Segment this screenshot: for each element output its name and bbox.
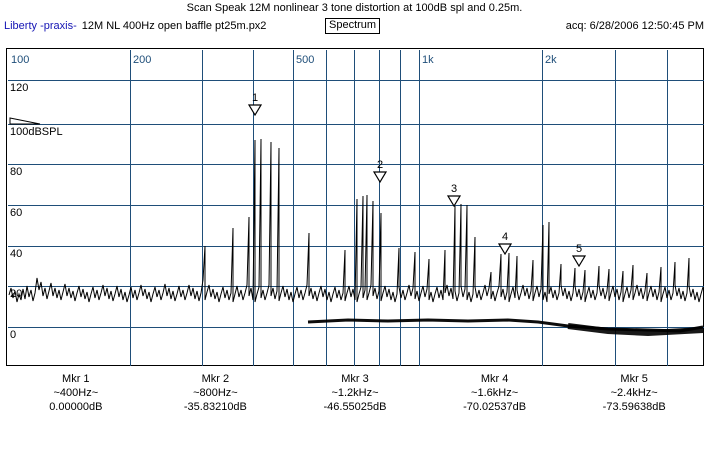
marker-3-number: 3 (446, 184, 462, 195)
marker-readout-4-freq: ~1.6kHz~ (425, 386, 565, 400)
spectrum-plot[interactable]: 120 100dBSPL 80 60 40 20 0 100 200 500 1… (6, 48, 704, 366)
spectrum-mode-button[interactable]: Spectrum (325, 18, 380, 34)
marker-readout-2-name: Mkr 2 (146, 372, 286, 386)
page-title: Scan Speak 12M nonlinear 3 tone distorti… (0, 1, 709, 15)
marker-2-arrow-icon (373, 171, 387, 183)
marker-5-arrow-icon (572, 255, 586, 267)
marker-readout-2[interactable]: Mkr 2 ~800Hz~ -35.83210dB (146, 372, 286, 424)
marker-5-number: 5 (571, 244, 587, 255)
marker-1-number: 1 (247, 93, 263, 104)
noise-floor-band (308, 320, 703, 331)
marker-annotation-2[interactable]: 2 (372, 160, 388, 183)
marker-readout-5-freq: ~2.4kHz~ (564, 386, 704, 400)
marker-readout-3-freq: ~1.2kHz~ (285, 386, 425, 400)
spectrum-analyzer-window: Scan Speak 12M nonlinear 3 tone distorti… (0, 0, 709, 472)
file-info: Liberty -praxis-12M NL 400Hz open baffle… (4, 19, 266, 34)
marker-readout-3-level: -46.55025dB (285, 400, 425, 414)
marker-1-arrow-icon (248, 104, 262, 116)
brand-label: Liberty -praxis- (4, 20, 77, 32)
marker-readout-4-name: Mkr 4 (425, 372, 565, 386)
acquisition-timestamp: acq: 6/28/2006 12:50:45 PM (566, 19, 704, 34)
marker-4-arrow-icon (498, 243, 512, 255)
marker-3-arrow-icon (447, 195, 461, 207)
marker-annotation-5[interactable]: 5 (571, 244, 587, 267)
marker-readout-table: Mkr 1 ~400Hz~ 0.00000dB Mkr 2 ~800Hz~ -3… (6, 372, 704, 424)
marker-readout-5-name: Mkr 5 (564, 372, 704, 386)
subheader-bar: Liberty -praxis-12M NL 400Hz open baffle… (0, 19, 709, 35)
file-name-label: 12M NL 400Hz open baffle pt25m.px2 (82, 20, 267, 32)
noise-floor-band-low (568, 326, 703, 333)
marker-readout-5-level: -73.59638dB (564, 400, 704, 414)
marker-readout-5[interactable]: Mkr 5 ~2.4kHz~ -73.59638dB (564, 372, 704, 424)
marker-readout-1[interactable]: Mkr 1 ~400Hz~ 0.00000dB (6, 372, 146, 424)
marker-readout-3-name: Mkr 3 (285, 372, 425, 386)
cursor-flag-icon (10, 118, 40, 124)
marker-readout-1-name: Mkr 1 (6, 372, 146, 386)
marker-readout-2-freq: ~800Hz~ (146, 386, 286, 400)
marker-readout-4-level: -70.02537dB (425, 400, 565, 414)
marker-readout-3[interactable]: Mkr 3 ~1.2kHz~ -46.55025dB (285, 372, 425, 424)
spectrum-trace (8, 50, 704, 366)
marker-readout-1-freq: ~400Hz~ (6, 386, 146, 400)
marker-annotation-1[interactable]: 1 (247, 93, 263, 116)
marker-readout-2-level: -35.83210dB (146, 400, 286, 414)
marker-readout-1-level: 0.00000dB (6, 400, 146, 414)
marker-readout-4[interactable]: Mkr 4 ~1.6kHz~ -70.02537dB (425, 372, 565, 424)
marker-2-number: 2 (372, 160, 388, 171)
marker-4-number: 4 (497, 232, 513, 243)
marker-annotation-4[interactable]: 4 (497, 232, 513, 255)
marker-annotation-3[interactable]: 3 (446, 184, 462, 207)
trace-path (9, 139, 703, 302)
plot-canvas: 120 100dBSPL 80 60 40 20 0 100 200 500 1… (8, 50, 704, 366)
